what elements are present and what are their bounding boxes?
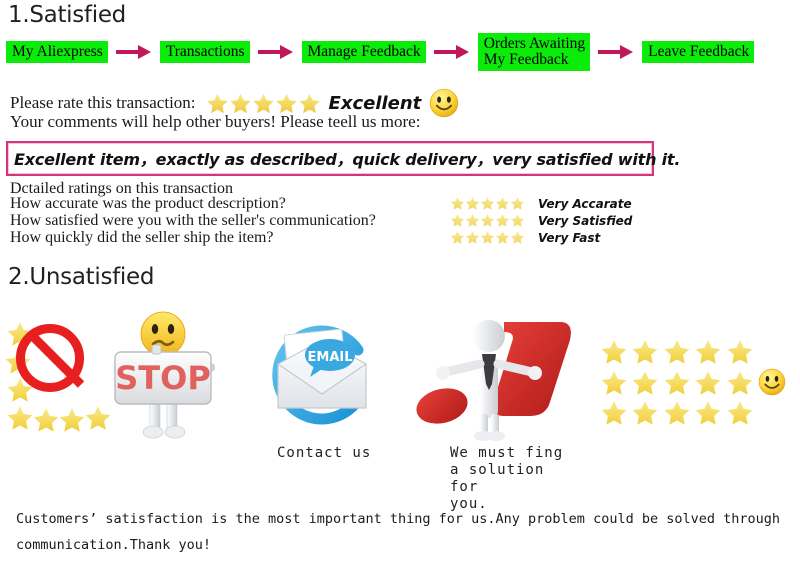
star-icon [480,230,495,245]
flow-step-manage-feedback[interactable]: Manage Feedback [302,41,426,63]
star-icon [694,399,722,427]
smiley-face-icon [758,368,786,401]
footer-line-1: Customers’ satisfaction is the most impo… [16,506,788,532]
svg-text:EMAIL: EMAIL [308,350,353,365]
flow-step-orders-awaiting-my-feedback[interactable]: Orders Awaiting My Feedback [478,33,590,71]
email-envelope-icon: EMAIL [262,320,382,432]
detailed-rating-row: How satisfied were you with the seller's… [10,212,632,229]
star-icon [480,213,495,228]
detailed-rating-stars[interactable] [450,213,534,228]
star-icon [663,338,691,366]
star-icon [663,369,691,397]
comments-prompt-label: Your comments will help other buyers! Pl… [10,112,420,132]
star-icon [600,338,628,366]
star-icon [726,338,754,366]
star-icon [58,406,86,434]
five-star-grid [600,338,755,428]
star-icon [694,369,722,397]
feedback-comment-text: Excellent item，exactly as described，quic… [14,146,646,170]
prohibition-icon [16,324,84,392]
star-icon [465,196,480,211]
feedback-guide-page: 1.Satisfied My Aliexpress Transactions M… [0,0,800,572]
unsatisfied-graphics: STOP EMAIL Contact u [0,302,800,492]
star-icon [631,399,659,427]
smiley-face-icon [758,368,786,396]
flow-step-my-aliexpress[interactable]: My Aliexpress [6,41,108,63]
star-icon [32,406,60,434]
star-icon [465,213,480,228]
detailed-rating-row: How accurate was the product description… [10,195,632,212]
detailed-ratings-table: How accurate was the product description… [10,195,632,246]
detailed-rating-value: Very Fast [538,231,600,245]
detailed-rating-question: How accurate was the product description… [10,195,450,213]
star-icon [32,406,60,439]
star-icon [480,196,495,211]
star-icon [510,196,525,211]
feedback-comment-box[interactable]: Excellent item，exactly as described，quic… [6,141,654,176]
detailed-rating-row: How quickly did the seller ship the item… [10,229,632,246]
arrow-icon [590,45,642,59]
arrow-icon [108,45,160,59]
star-icon [495,196,510,211]
section-title-satisfied: 1.Satisfied [8,2,126,28]
star-icon [600,369,628,397]
detailed-rating-question: How satisfied were you with the seller's… [10,212,450,230]
detailed-rating-value: Very Satisfied [538,214,632,228]
star-icon [495,213,510,228]
flow-step-transactions[interactable]: Transactions [160,41,250,63]
star-icon [510,230,525,245]
flow-step-leave-feedback[interactable]: Leave Feedback [642,41,754,63]
breadcrumb: My Aliexpress Transactions Manage Feedba… [6,33,754,71]
star-icon [6,404,34,437]
arrow-icon [250,45,302,59]
detailed-rating-stars[interactable] [450,196,534,211]
svg-text:STOP: STOP [115,359,211,397]
smiley-face-icon [429,88,459,118]
solution-caption: We must fing a solution for you. [450,445,580,513]
star-icon [450,213,465,228]
star-icon [450,230,465,245]
star-icon [663,399,691,427]
star-icon [6,404,34,432]
star-icon [495,230,510,245]
star-icon [726,399,754,427]
star-icon [631,369,659,397]
star-icon [450,196,465,211]
star-icon [726,369,754,397]
rating-verdict-label: Excellent [329,93,422,114]
detailed-rating-value: Very Accarate [538,197,632,211]
contact-us-caption: Contact us [277,445,371,462]
stop-sign-figure-icon: STOP [103,308,221,440]
footer-line-2: communication.Thank you! [16,532,788,558]
smiley-face-icon [429,88,459,118]
footer-message: Customers’ satisfaction is the most impo… [16,506,788,558]
arrow-icon [426,45,478,59]
star-icon [58,406,86,439]
problem-solution-figure-icon [412,306,587,441]
star-icon [465,230,480,245]
star-icon [600,399,628,427]
detailed-rating-question: How quickly did the seller ship the item… [10,229,450,247]
star-icon [510,213,525,228]
star-icon [631,338,659,366]
detailed-rating-stars[interactable] [450,230,534,245]
section-title-unsatisfied: 2.Unsatisfied [8,264,154,290]
rate-prompt-label: Please rate this transaction: [10,93,196,113]
star-icon [694,338,722,366]
